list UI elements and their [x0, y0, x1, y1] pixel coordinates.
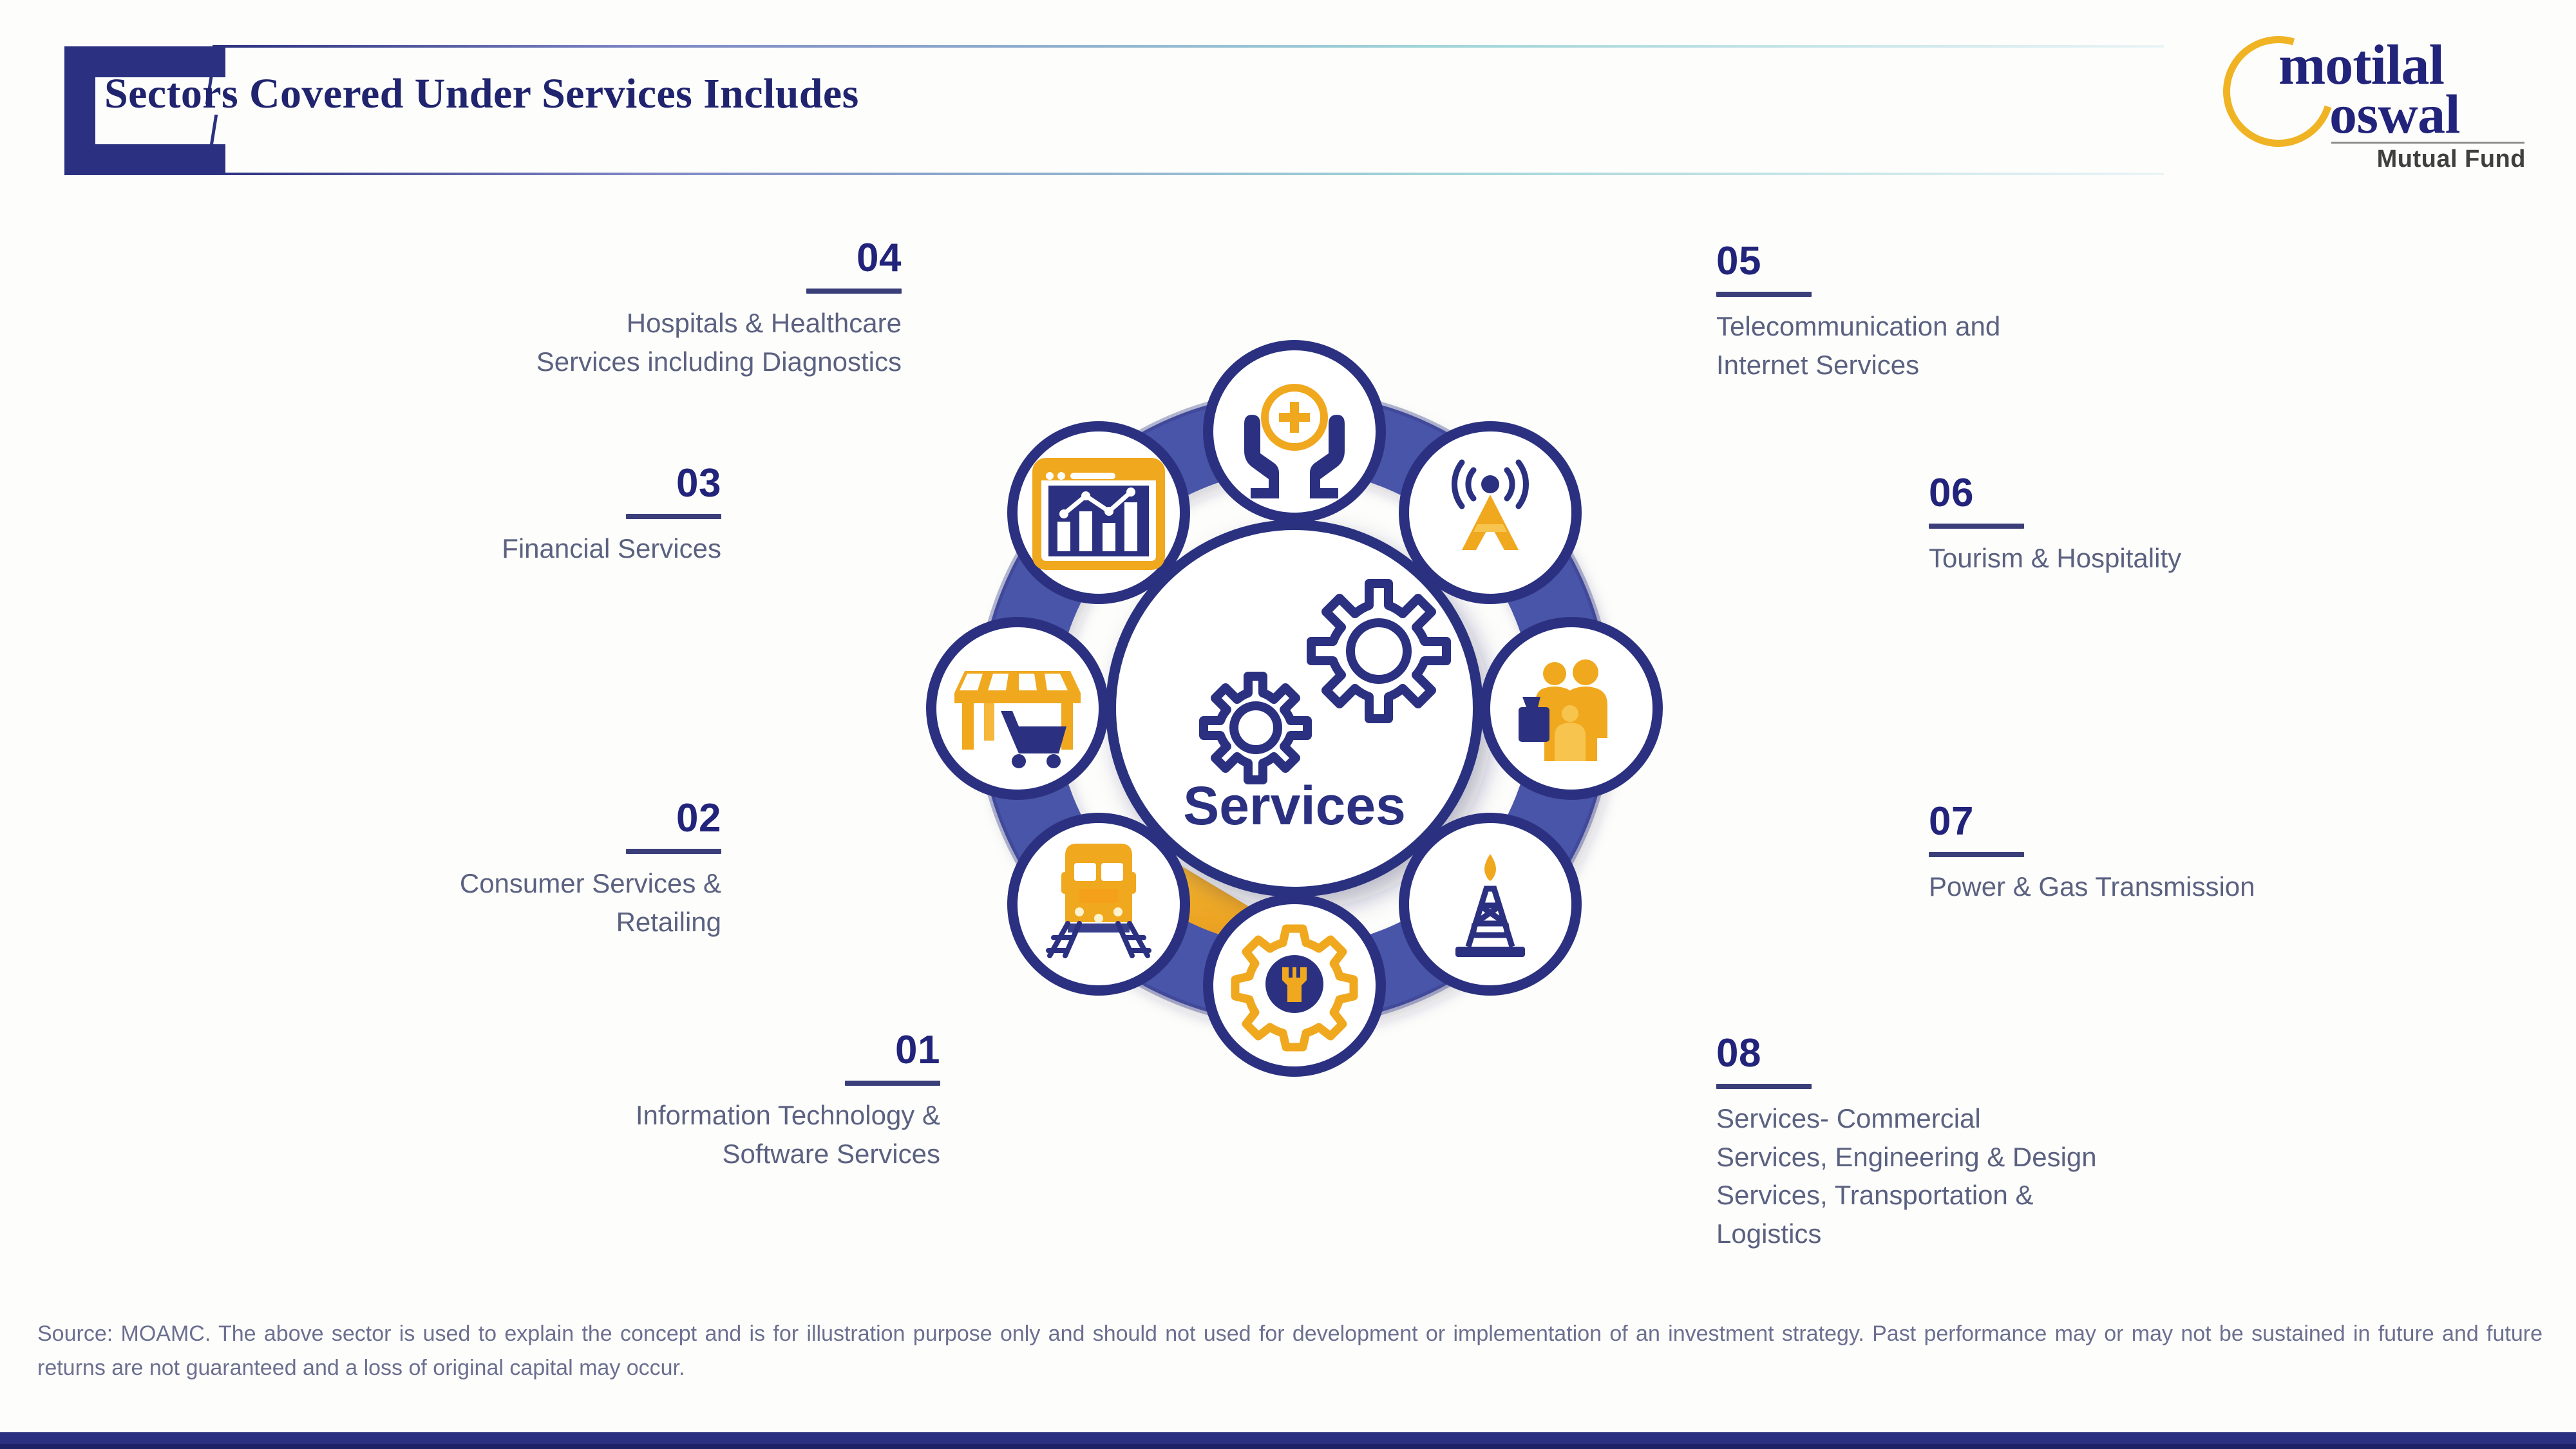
footer-bar-accent [0, 1444, 2576, 1449]
sector-rule-06 [1929, 524, 2024, 529]
center-node[interactable] [1111, 525, 1478, 892]
node-circle-02[interactable] [931, 622, 1104, 795]
sector-rule-01 [845, 1081, 940, 1086]
slide-canvas: Sectors Covered Under Services Includes … [0, 0, 2576, 1449]
sector-number-03: 03 [386, 464, 721, 504]
sector-rule-04 [806, 289, 902, 294]
slide-header: Sectors Covered Under Services Includes [0, 0, 2576, 184]
logo-divider [2331, 142, 2524, 144]
sector-label-05: 05 Telecommunication and Internet Servic… [1716, 241, 2206, 384]
sector-text-07: Power & Gas Transmission [1929, 867, 2444, 906]
center-label: Services [1183, 775, 1406, 836]
sector-number-04: 04 [451, 238, 902, 278]
logo-tagline: Mutual Fund [2377, 146, 2526, 173]
sector-text-01: Information Technology & Software Servic… [502, 1096, 940, 1173]
sector-rule-08 [1716, 1084, 1812, 1089]
sector-label-03: 03 Financial Services [386, 464, 721, 568]
sector-rule-07 [1929, 852, 2024, 857]
brand-logo: motilal oswal Mutual Fund [2223, 24, 2526, 173]
bar-chart-window-icon [1037, 462, 1160, 565]
sector-text-06: Tourism & Hospitality [1929, 539, 2418, 578]
sector-number-02: 02 [361, 799, 721, 838]
sector-label-07: 07 Power & Gas Transmission [1929, 802, 2444, 906]
sector-rule-02 [626, 849, 721, 854]
logo-brand-line2: oswal [2329, 86, 2460, 142]
sector-label-01: 01 Information Technology & Software Ser… [502, 1030, 940, 1173]
sector-number-06: 06 [1929, 473, 2418, 513]
sector-label-02: 02 Consumer Services & Retailing [361, 799, 721, 941]
page-title: Sectors Covered Under Services Includes [104, 70, 859, 118]
source-disclaimer: Source: MOAMC. The above sector is used … [37, 1317, 2543, 1385]
sector-rule-05 [1716, 292, 1812, 297]
sector-text-05: Telecommunication and Internet Services [1716, 307, 2206, 384]
sector-text-02: Consumer Services & Retailing [361, 864, 721, 941]
sector-text-03: Financial Services [386, 529, 721, 568]
sector-label-08: 08 Services- Commercial Services, Engine… [1716, 1034, 2231, 1253]
sector-label-06: 06 Tourism & Hospitality [1929, 473, 2418, 578]
sector-label-04: 04 Hospitals & Healthcare Services inclu… [451, 238, 902, 381]
sector-number-07: 07 [1929, 802, 2444, 842]
sector-number-01: 01 [502, 1030, 940, 1070]
sector-number-05: 05 [1716, 241, 2206, 281]
sector-number-08: 08 [1716, 1034, 2231, 1074]
sector-rule-03 [626, 514, 721, 519]
sector-text-04: Hospitals & Healthcare Services includin… [451, 304, 902, 381]
header-rule-top [213, 45, 2164, 48]
sector-text-08: Services- Commercial Services, Engineeri… [1716, 1099, 2231, 1253]
